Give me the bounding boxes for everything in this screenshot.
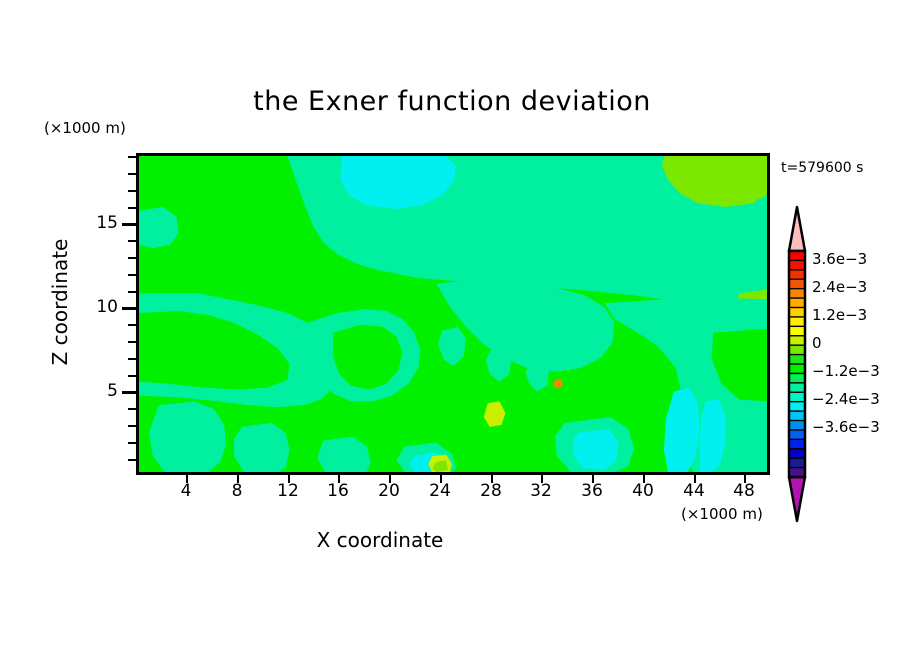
colorbar-label: −3.6e−3 xyxy=(812,418,880,436)
colorbar-band xyxy=(789,251,805,261)
colorbar-band xyxy=(789,298,805,308)
y-tick-label: 15 xyxy=(78,213,118,233)
x-tick-label: 32 xyxy=(521,481,561,501)
x-tick-label: 36 xyxy=(572,481,612,501)
y-tick-minor xyxy=(128,459,136,461)
colorbar-band xyxy=(789,270,805,280)
y-axis-label: Z coordinate xyxy=(48,202,72,402)
y-tick-major xyxy=(122,223,136,226)
y-tick-minor xyxy=(128,274,136,276)
x-tick-label: 20 xyxy=(369,481,409,501)
colorbar-band xyxy=(789,260,805,270)
x-tick-label: 44 xyxy=(674,481,714,501)
y-tick-minor xyxy=(128,156,136,158)
y-tick-minor xyxy=(128,408,136,410)
y-tick-minor xyxy=(128,324,136,326)
y-axis-unit-label: (×1000 m) xyxy=(44,119,126,137)
colorbar-band xyxy=(789,355,805,365)
colorbar-band xyxy=(789,308,805,318)
colorbar-band xyxy=(789,326,805,336)
colorbar-band xyxy=(789,430,805,440)
colorbar-label: 1.2e−3 xyxy=(812,306,867,324)
y-tick-minor xyxy=(128,190,136,192)
x-axis-label: X coordinate xyxy=(0,528,760,552)
colorbar-label: −1.2e−3 xyxy=(812,362,880,380)
y-tick-label: 10 xyxy=(78,297,118,317)
colorbar-band xyxy=(789,279,805,289)
y-tick-minor xyxy=(128,341,136,343)
x-tick-label: 24 xyxy=(420,481,460,501)
y-tick-major xyxy=(122,391,136,394)
colorbar-band xyxy=(789,458,805,468)
x-tick-label: 28 xyxy=(471,481,511,501)
y-tick-minor xyxy=(128,375,136,377)
y-tick-minor xyxy=(128,257,136,259)
y-tick-minor xyxy=(128,173,136,175)
colorbar xyxy=(775,203,815,525)
timestamp-annotation: t=579600 s xyxy=(781,160,863,176)
colorbar-band xyxy=(789,383,805,393)
y-tick-minor xyxy=(128,425,136,427)
colorbar-band xyxy=(789,392,805,402)
x-axis-unit-label: (×1000 m) xyxy=(681,505,763,523)
page-title: the Exner function deviation xyxy=(0,86,904,117)
colorbar-label: 3.6e−3 xyxy=(812,250,867,268)
y-tick-minor xyxy=(128,291,136,293)
colorbar-band xyxy=(789,449,805,459)
colorbar-label: 2.4e−3 xyxy=(812,278,867,296)
colorbar-label: −2.4e−3 xyxy=(812,390,880,408)
contour-plot-area xyxy=(136,153,770,475)
contour-field xyxy=(139,156,767,472)
colorbar-label: 0 xyxy=(812,334,822,352)
colorbar-band xyxy=(789,336,805,346)
colorbar-band xyxy=(789,345,805,355)
colorbar-band xyxy=(789,364,805,374)
x-tick-label: 8 xyxy=(217,481,257,501)
y-tick-minor xyxy=(128,442,136,444)
colorbar-band xyxy=(789,411,805,421)
y-tick-minor xyxy=(128,207,136,209)
colorbar-band xyxy=(789,373,805,383)
x-tick-label: 4 xyxy=(166,481,206,501)
y-tick-minor xyxy=(128,358,136,360)
y-tick-minor xyxy=(128,240,136,242)
colorbar-band xyxy=(789,289,805,299)
x-tick-label: 12 xyxy=(268,481,308,501)
colorbar-band xyxy=(789,439,805,449)
colorbar-band xyxy=(789,317,805,327)
y-tick-major xyxy=(122,307,136,310)
colorbar-band xyxy=(789,421,805,431)
x-tick-label: 48 xyxy=(724,481,764,501)
x-tick-label: 40 xyxy=(623,481,663,501)
y-tick-label: 5 xyxy=(78,381,118,401)
x-tick-label: 16 xyxy=(318,481,358,501)
colorbar-band xyxy=(789,402,805,412)
